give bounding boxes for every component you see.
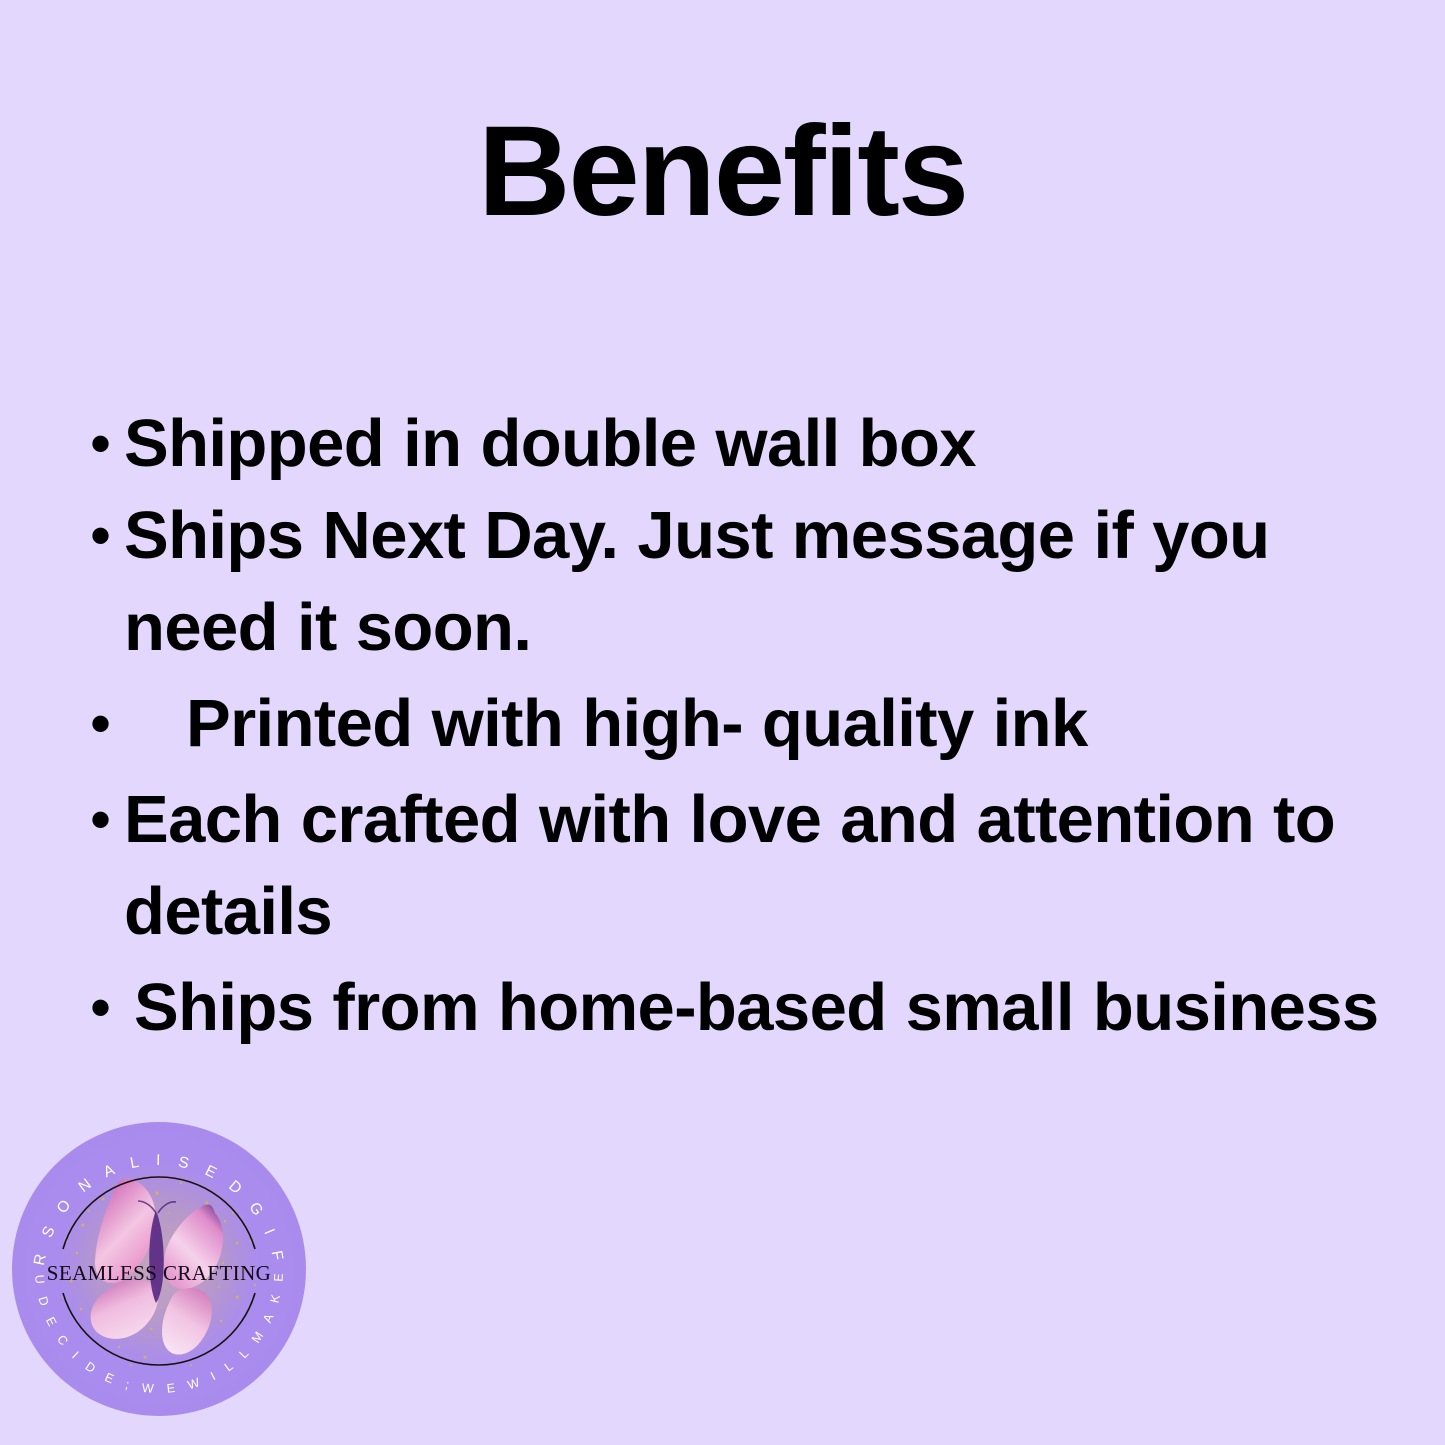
bullet-icon: • xyxy=(78,398,124,490)
list-item: • Printed with high- quality ink xyxy=(78,678,1428,770)
bullet-icon: • xyxy=(78,490,124,582)
bullet-icon: • xyxy=(78,962,124,1054)
list-item: • Shipped in double wall box xyxy=(78,398,1428,490)
list-item-label: Ships Next Day. Just message if you need… xyxy=(124,490,1428,674)
bullet-icon: • xyxy=(78,774,124,866)
bullet-icon: • xyxy=(78,678,124,770)
list-item-label: Each crafted with love and attention to … xyxy=(124,774,1428,958)
list-item-label: Shipped in double wall box xyxy=(124,398,1428,490)
logo-brand-name: SEAMLESS CRAFTING xyxy=(11,1261,307,1286)
list-item: • Ships from home-based small business xyxy=(78,962,1428,1054)
benefits-slide: Benefits • Shipped in double wall box • … xyxy=(0,0,1445,1445)
list-item: • Each crafted with love and attention t… xyxy=(78,774,1428,958)
list-item-label: Printed with high- quality ink xyxy=(124,678,1428,770)
seamless-crafting-logo: P E R S O N A L I S E D G I F T S Y O U … xyxy=(11,1121,307,1417)
list-item-label: Ships from home-based small business xyxy=(124,962,1428,1054)
benefits-list: • Shipped in double wall box • Ships Nex… xyxy=(78,398,1428,1054)
page-title: Benefits xyxy=(0,108,1445,236)
list-item: • Ships Next Day. Just message if you ne… xyxy=(78,490,1428,674)
